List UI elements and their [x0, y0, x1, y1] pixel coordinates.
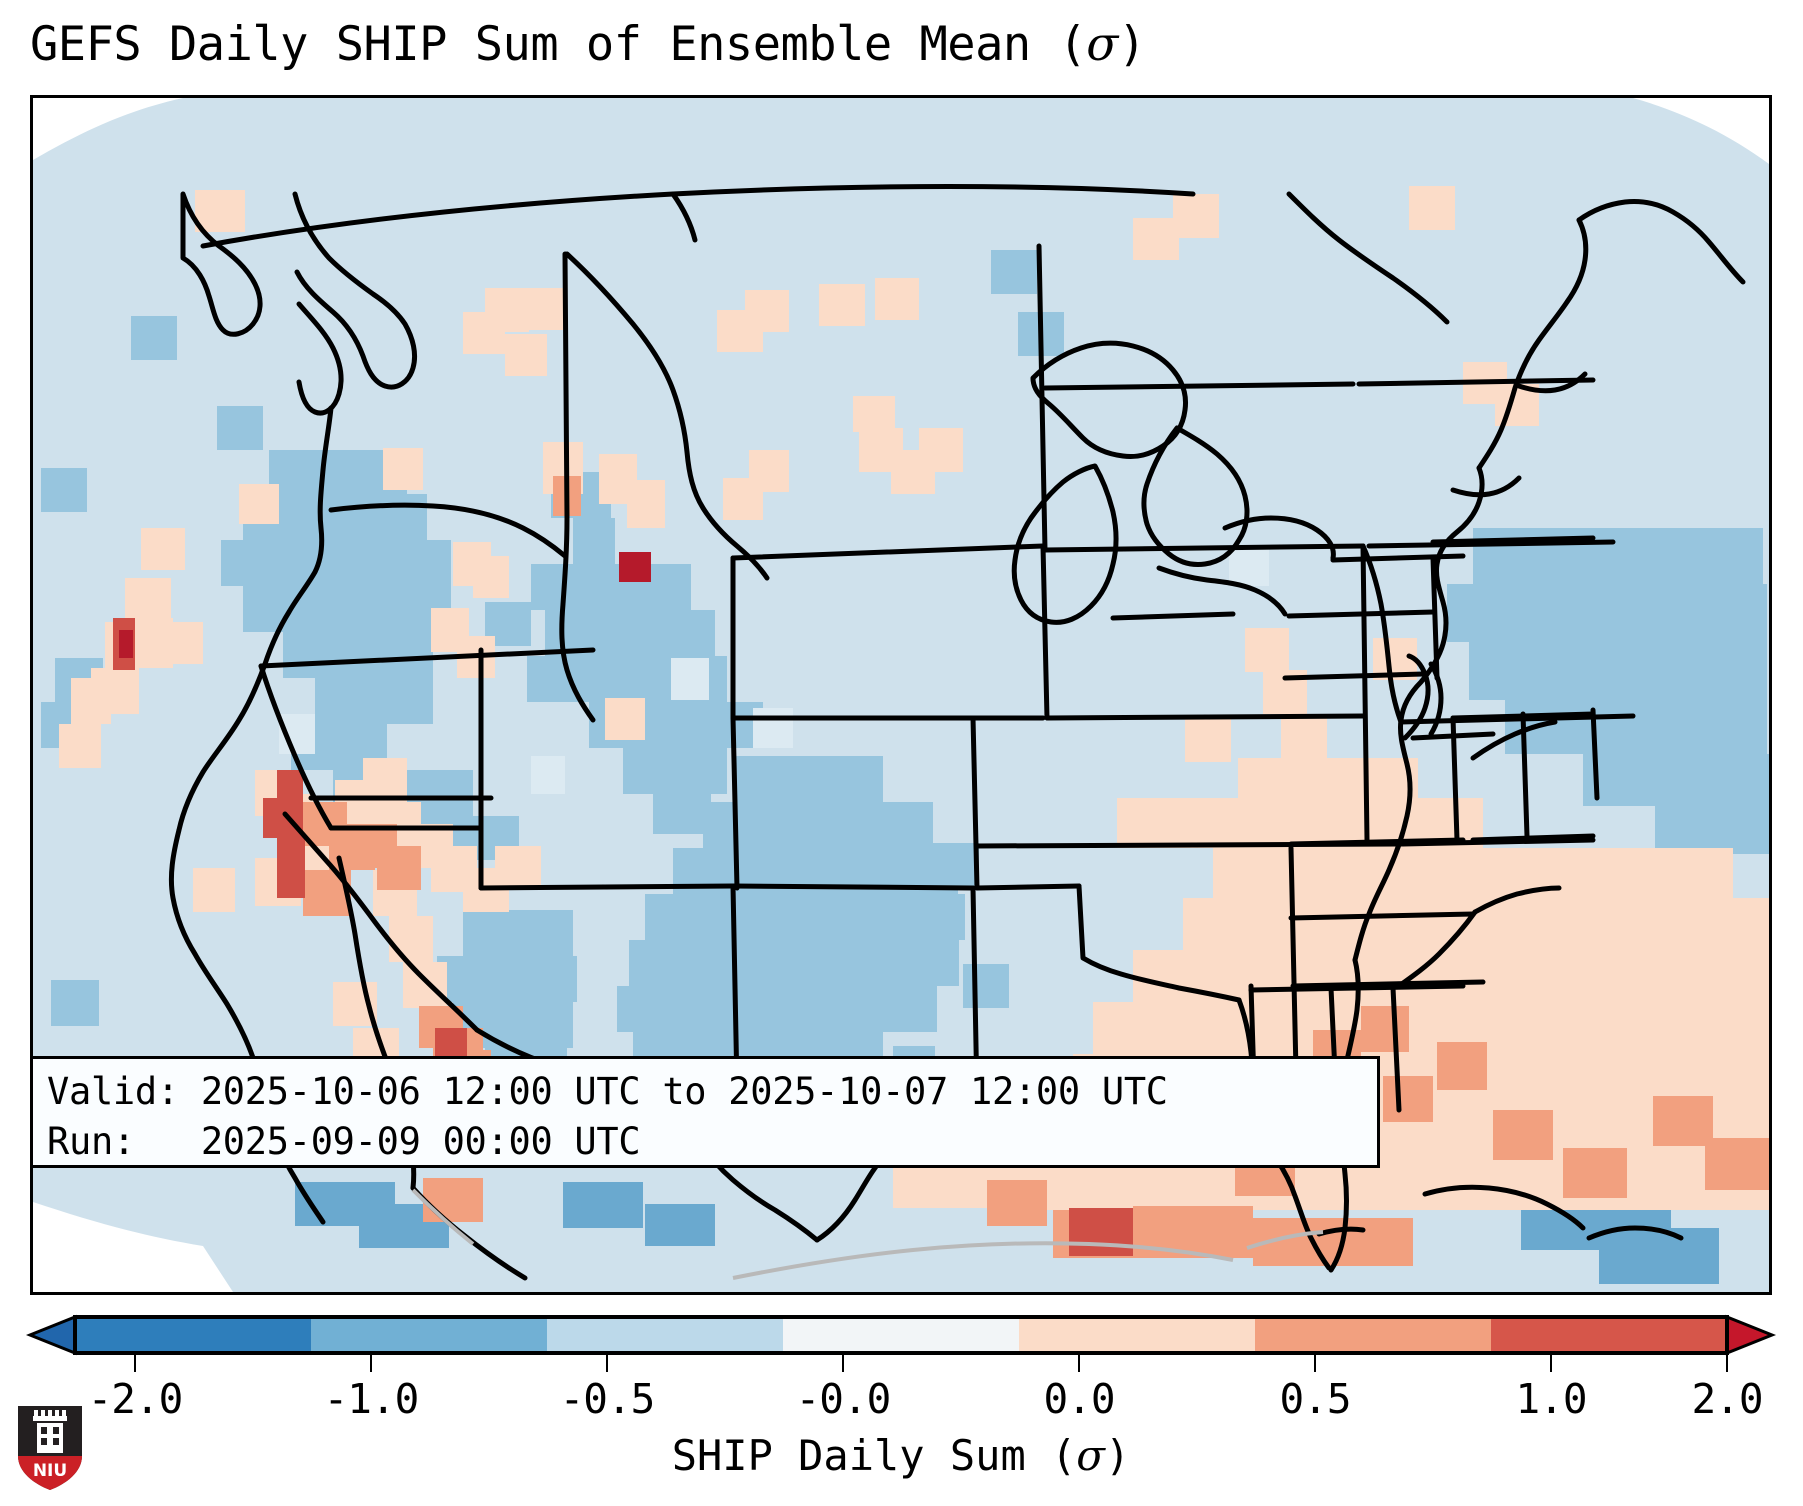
page-title-text-end: ) — [1118, 17, 1146, 72]
castle-icon — [33, 1410, 67, 1453]
colorbar-ticks: -2.0 -1.0 -0.5 -0.0 0.0 0.5 1.0 2.0 — [30, 1355, 1772, 1425]
sigma-symbol: σ — [1086, 17, 1118, 72]
info-run-line: Run: 2025-09-09 00:00 UTC — [47, 1117, 1363, 1167]
colorbar[interactable] — [30, 1315, 1772, 1355]
info-valid-line: Valid: 2025-10-06 12:00 UTC to 2025-10-0… — [47, 1067, 1363, 1117]
colorbar-extend-min — [30, 1317, 75, 1353]
colorbar-label: SHIP Daily Sum (σ) — [30, 1428, 1772, 1484]
state-border-ne-ks — [1047, 716, 1363, 718]
sigma-symbol-cbar: σ — [1076, 1431, 1105, 1480]
figure-root: GEFS Daily SHIP Sum of Ensemble Mean (σ) — [0, 0, 1803, 1506]
colorbar-band-3 — [547, 1317, 783, 1353]
state-border-ut-az — [481, 886, 733, 888]
colorbar-band-6 — [1255, 1317, 1491, 1353]
colorbar-extend-max — [1727, 1317, 1772, 1353]
niu-logo-text: NIU — [33, 1461, 67, 1481]
colorbar-svg[interactable] — [30, 1315, 1772, 1355]
colorbar-label-text-end: ) — [1105, 1431, 1130, 1480]
info-box: Valid: 2025-10-06 12:00 UTC to 2025-10-0… — [30, 1056, 1380, 1168]
colorbar-band-5 — [1019, 1317, 1255, 1353]
colorbar-band-7 — [1491, 1317, 1727, 1353]
colorbar-band-4 — [783, 1317, 1019, 1353]
colorbar-label-text: SHIP Daily Sum ( — [672, 1431, 1077, 1480]
niu-logo-svg: NIU — [16, 1404, 84, 1492]
state-border-co-nm — [733, 886, 973, 888]
page-title-text: GEFS Daily SHIP Sum of Ensemble Mean ( — [30, 17, 1086, 72]
page-title: GEFS Daily SHIP Sum of Ensemble Mean (σ) — [30, 14, 1770, 76]
niu-logo: NIU — [16, 1404, 84, 1492]
colorbar-band-2 — [311, 1317, 547, 1353]
state-border-ok-panhandle — [977, 886, 1079, 888]
colorbar-band-1 — [75, 1317, 311, 1353]
